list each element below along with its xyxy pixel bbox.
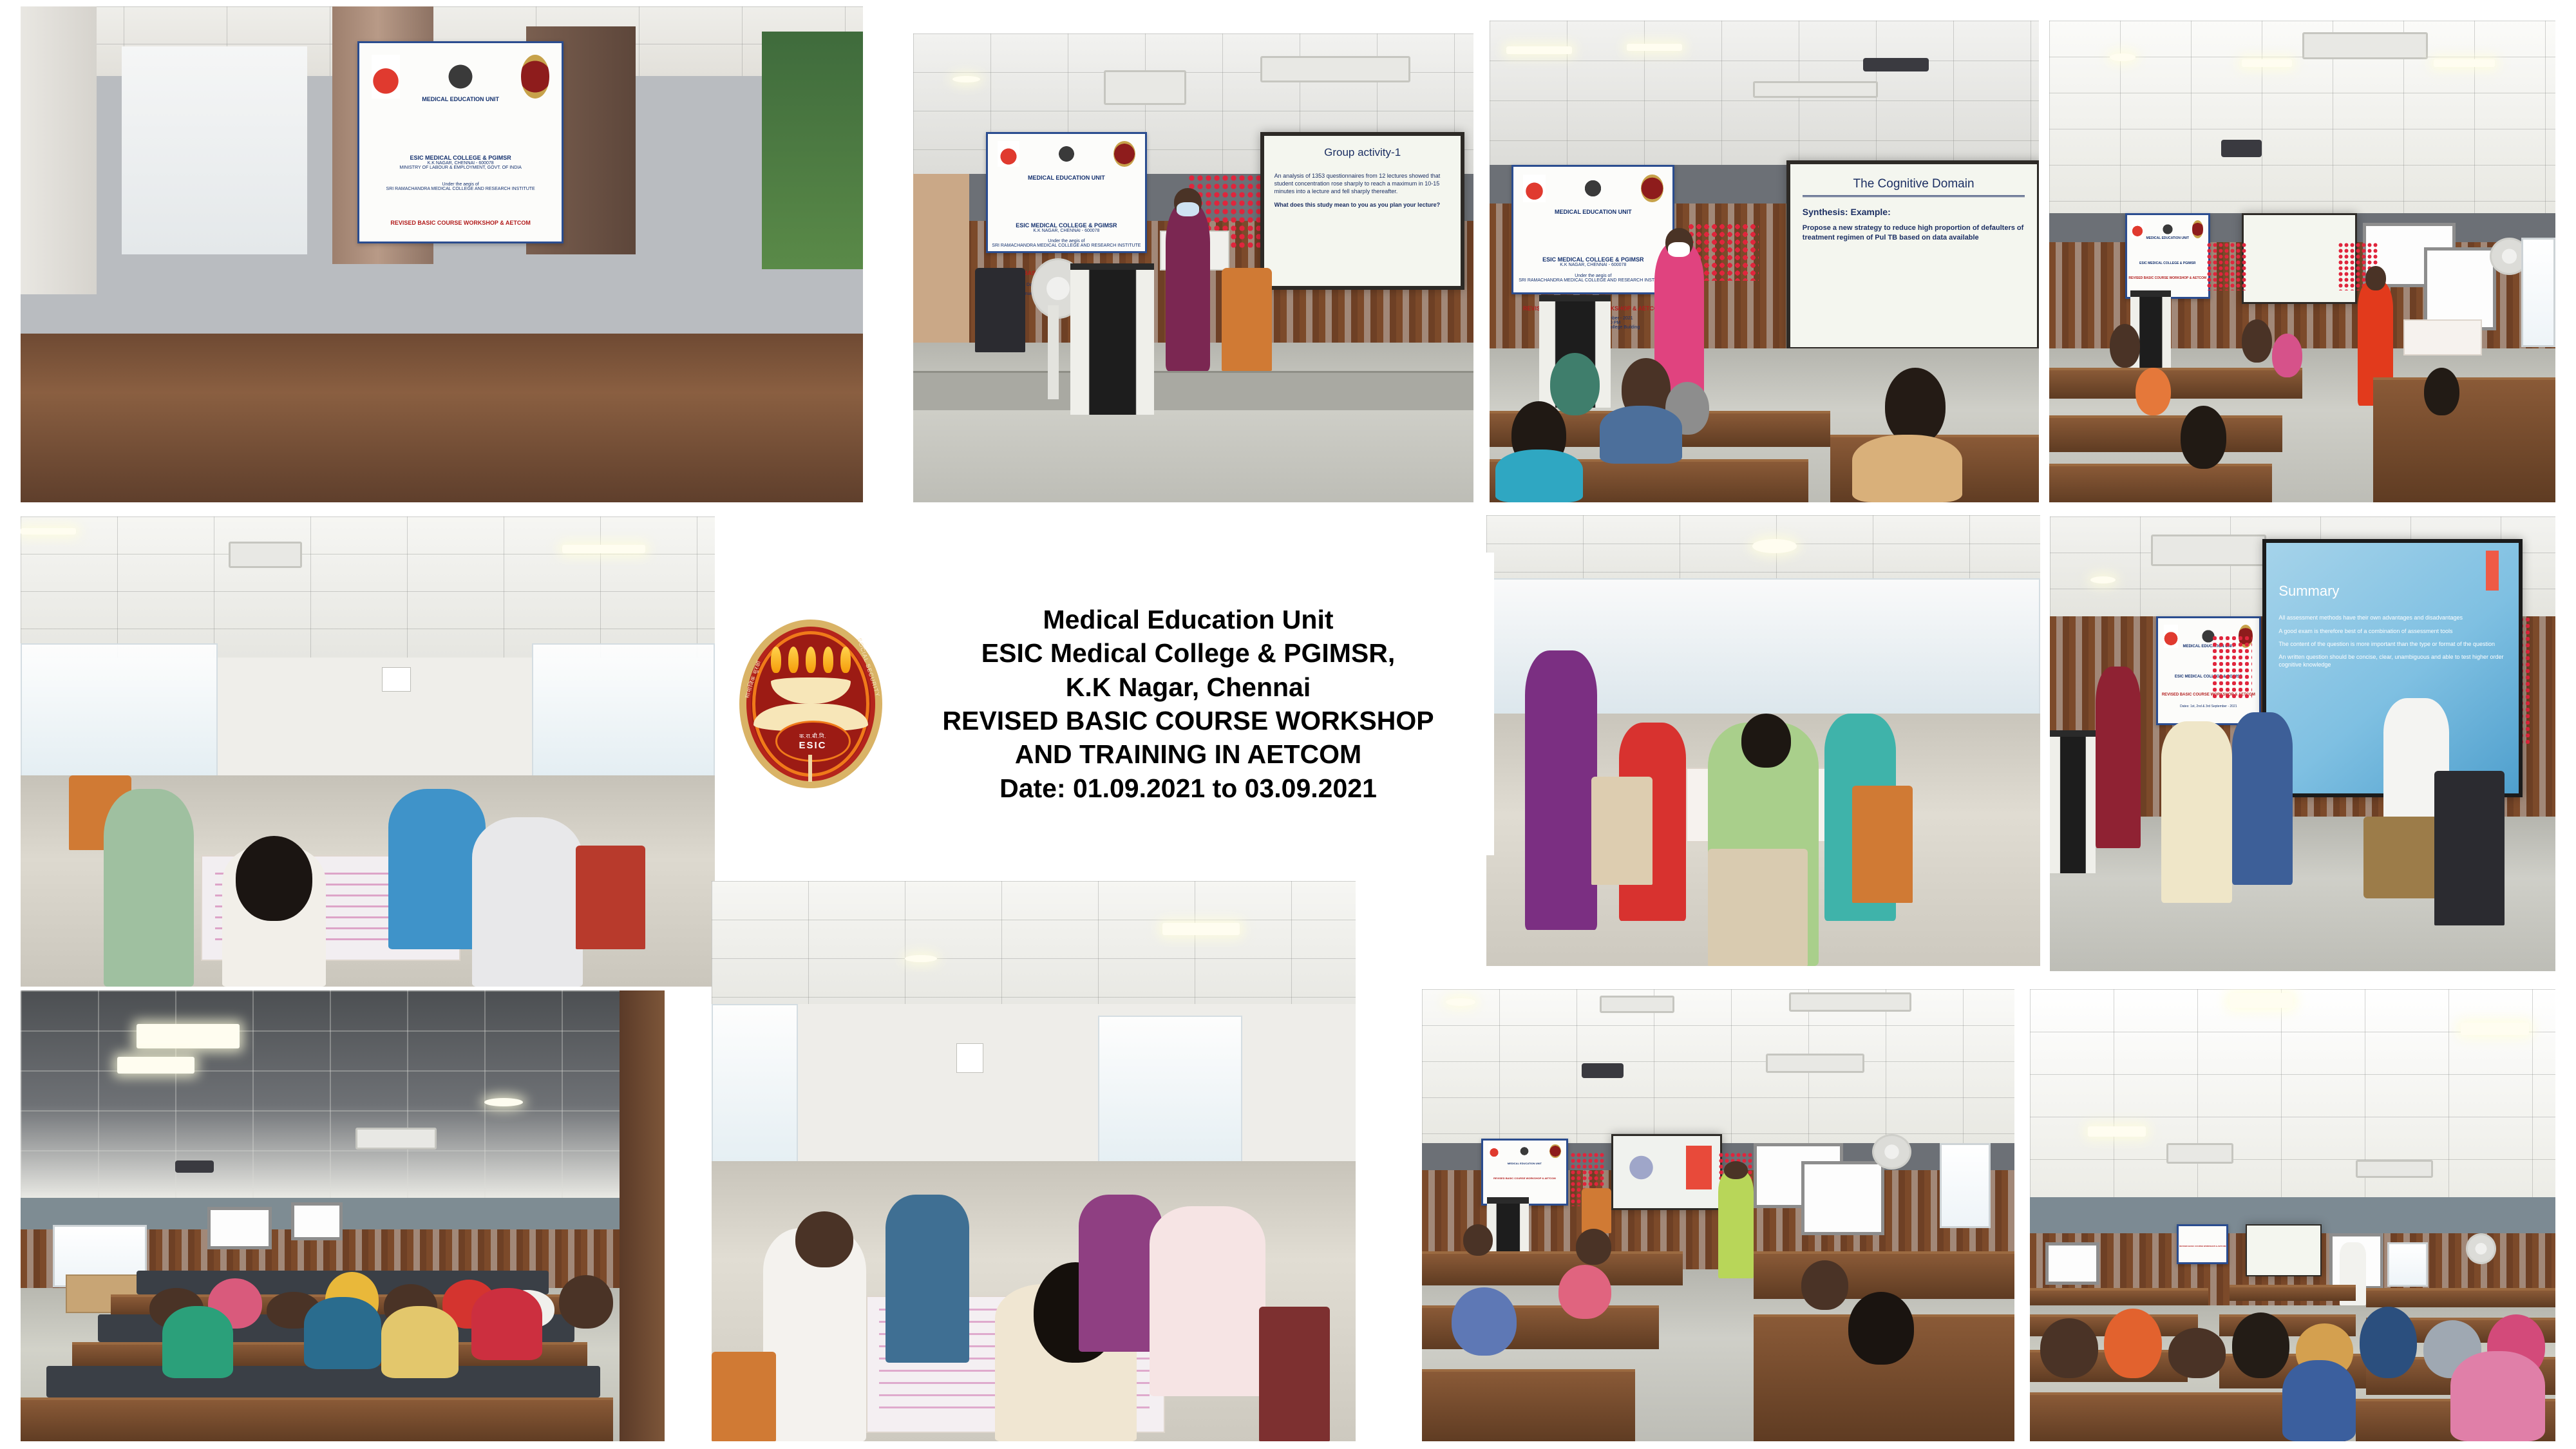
banner-partner: SRI RAMACHANDRA MEDICAL COLLEGE AND RESE… [988,243,1145,248]
projector-screen [1611,1134,1722,1210]
mciindia-logo-icon [2164,625,2178,648]
slide-bullet-3: The content of the question is more impo… [2278,640,2506,648]
ceiling-light-1 [1506,46,1572,53]
panelist-seated-1 [2161,721,2232,903]
ceiling-light [2090,576,2116,583]
desk-row-1 [2049,368,2302,399]
ceiling-light-1 [2110,53,2135,61]
mciindia-logo-icon [998,141,1019,167]
desk-row-right [2373,377,2555,502]
slide-subtitle: Synthesis: Example: [1803,206,2025,218]
ceiling-light-2 [2461,1023,2529,1035]
seated-participant-scrubs [388,789,486,949]
participant-front-1 [162,1306,233,1378]
photo-classroom-rear-view-session: REVISED BASIC COURSE WORKSHOP & AETCOM [2030,989,2555,1441]
slide-text [2249,225,2349,230]
slide-bullet: Propose a new strategy to reduce high pr… [1803,223,2025,243]
ceiling-projector [1863,58,1929,71]
ceiling [712,881,1356,1004]
ceiling-light-3 [2434,59,2494,67]
event-banner: MEDICAL EDUCATION UNIT ESIC MEDICAL COLL… [2125,213,2210,299]
caption-line-3: K.K Nagar, Chennai [1066,670,1311,704]
ac-vent-icon [1104,70,1186,105]
caption-line-4: REVISED BASIC COURSE WORKSHOP [942,704,1434,737]
ceiling-light-1 [137,1024,240,1049]
banner-org-line2: ESIC MEDICAL COLLEGE & PGIMSR [1513,256,1672,263]
audience-head-1 [1550,353,1600,415]
stage-edge [913,371,1473,410]
banner-aegis: Under the aegis of [988,239,1145,243]
esic-abbr-badge: क.रा.बी.नि. ESIC [775,721,851,762]
face-mask-icon [1668,242,1690,256]
plastic-chair-stage [1582,1188,1611,1233]
participant-head-4 [2136,368,2171,416]
national-emblem-icon [2162,220,2173,238]
national-emblem-icon [446,55,475,99]
partner-seal-icon [1641,175,1663,202]
photo-auditorium-participants-seated [21,990,665,1441]
partner-seal-icon [1549,1144,1561,1159]
caption-line-6: Date: 01.09.2021 to 03.09.2021 [999,772,1377,805]
projection-screen-2 [291,1202,343,1240]
facilitator-head [1724,1161,1748,1179]
plastic-chair-left [1591,777,1653,885]
banner-aegis: Under the aegis of [1513,274,1672,278]
panelist-seated-2 [2232,712,2293,885]
ceiling [2049,21,2555,213]
partner-seal-icon [2192,220,2204,238]
participant-front-3 [381,1306,459,1378]
whiteboard-flip [2424,247,2496,331]
ac-vent-icon-2 [1789,992,1911,1012]
plastic-chair-right [1259,1307,1330,1441]
ac-vent-icon-1 [1600,996,1674,1013]
photo-speaker-at-podium-group-activity-slide: MEDICAL EDUCATION UNIT ESIC MEDICAL COLL… [913,33,1473,502]
ceiling-projector [1582,1063,1623,1079]
event-banner: MEDICAL EDUCATION UNIT REVISED BASIC COU… [1481,1139,1568,1206]
slide-bullet-4: An written question should be concise, c… [2278,653,2506,668]
seated-participant-left [104,789,194,987]
facilitator [1718,1170,1754,1278]
participant-head-6 [2424,368,2459,416]
participant-front-2 [304,1297,381,1369]
side-wall [620,990,665,1441]
window [1940,1143,1991,1228]
seated-participant-left-head [795,1211,853,1267]
desk-row-3 [2049,464,2272,502]
oil-lamp-icon [771,647,851,704]
projector-screen: The Cognitive Domain Synthesis: Example:… [1786,160,2039,351]
audience-body-2 [1600,406,1682,464]
plastic-chair-center [1708,849,1808,966]
ceiling [1422,989,2014,1143]
slide-accent [1686,1146,1712,1189]
desk-row-2 [2049,415,2282,451]
esic-logo-icon: क.रा.बी.नि. ESIC सामाजिक सुरक्षा SOCIAL … [739,620,882,788]
banner-org-line1: MEDICAL EDUCATION UNIT [1513,209,1672,215]
banner-title: REVISED BASIC COURSE WORKSHOP & AETCOM [1483,1177,1566,1180]
standing-facilitator [2096,667,2141,848]
participant-head-3 [2272,334,2302,377]
participant-head-2 [2242,319,2272,363]
slide-body: An analysis of 1353 questionnaires from … [1274,172,1451,195]
participant-head-3 [1558,1265,1612,1319]
desk-row-1 [1422,1251,1683,1285]
plastic-chair [1222,268,1272,371]
collage-caption-card: क.रा.बी.नि. ESIC सामाजिक सुरक्षा SOCIAL … [721,553,1494,855]
lamp-flames-icon [771,647,851,673]
banner-org-line1: MEDICAL EDUCATION UNIT [1483,1162,1566,1165]
ceiling [21,990,665,1198]
wall-fan-icon [1872,1134,1911,1170]
esic-abbr: ESIC [799,740,826,751]
ac-vent-right-icon [1260,56,1410,82]
seated-participant-back-head [1741,714,1791,768]
ceiling-light-2 [1162,923,1240,935]
banner-org-line3: K.K NAGAR, CHENNAI - 600078 [1513,263,1672,267]
banner-org-line2: ESIC MEDICAL COLLEGE & PGIMSR [988,222,1145,229]
mciindia-logo-icon [1523,175,1546,202]
participant-head-5 [1801,1260,1849,1310]
photo-classroom-facilitator-standing: MEDICAL EDUCATION UNIT REVISED BASIC COU… [1422,989,2014,1441]
slide-title: Summary [2278,583,2506,603]
photo-collage: MEDICAL EDUCATION UNIT ESIC MEDICAL COLL… [0,0,2576,1449]
national-emblem-icon [1582,175,1604,202]
photo-summary-slide-panel-discussion: MEDICAL EDUCATION UNIT ESIC MEDICAL COLL… [2050,516,2555,971]
participant-front-right [2450,1351,2545,1441]
mciindia-logo-icon [372,55,400,99]
caption-line-2: ESIC Medical College & PGIMSR, [981,636,1395,670]
ac-vent-icon-3 [1766,1054,1864,1073]
ac-vent-icon-2 [2356,1160,2433,1179]
standing-observer-saree [1525,650,1597,930]
ac-vent-icon [229,542,302,568]
event-banner: MEDICAL EDUCATION UNIT ESIC MEDICAL COLL… [1511,165,1674,294]
banner-title: REVISED BASIC COURSE WORKSHOP & AETCOM [2127,276,2208,280]
national-emblem-icon [1519,1144,1530,1159]
office-chair [975,268,1025,352]
caption-text-block: Medical Education Unit ESIC Medical Coll… [882,603,1494,806]
fan-stand [1048,305,1059,399]
slide-title: Group activity-1 [1274,146,1451,163]
ceiling-light [1752,539,1797,553]
national-emblem-icon [1056,141,1077,167]
slide-bullet-1: All assessment methods have their own ad… [2278,614,2506,621]
ceiling-light-2 [562,545,645,553]
office-chair [2434,771,2505,925]
slide-bullet-2: A good exam is therefore best of a combi… [2278,627,2506,635]
participant-head-4 [1452,1287,1517,1355]
plastic-chair-right [1852,786,1913,903]
ceiling-light-2 [117,1057,194,1074]
desk-row-3 [1422,1369,1635,1441]
participant-head-5 [2181,406,2226,468]
event-banner: MEDICAL EDUCATION UNIT ESIC MEDICAL COLL… [986,132,1147,253]
window [2521,238,2555,348]
people-row-front-seated [29,304,855,493]
mciindia-logo-icon [1488,1144,1500,1159]
audience-body-3 [1852,435,1962,502]
ac-vent-icon [1753,81,1878,98]
photo-group-work-flipchart-large [712,881,1356,1441]
door [913,174,969,343]
ceiling [2030,989,2555,1197]
partner-seal-icon [1113,141,1135,167]
participant-front-center [2282,1360,2356,1441]
ceiling-light-1 [21,528,76,535]
audience-head-5 [1885,368,1946,445]
ac-vent-icon [2302,32,2428,59]
podium [2050,730,2096,873]
face-mask-icon [1177,202,1199,216]
photo-small-group-work-round-table [21,516,715,987]
ceiling [1486,515,2040,578]
participant-head-6 [1848,1292,1913,1364]
banner-org-line3: K.K NAGAR, CHENNAI - 600078 [988,229,1145,233]
seated-participant-right [1150,1206,1265,1397]
seated-participant-front-head [236,836,312,920]
ac-vent-icon [355,1128,437,1150]
side-table [2403,319,2482,355]
podium [1070,263,1155,415]
ceiling [1490,21,2039,165]
slide-graphic [1622,1146,1661,1189]
photo-group-photograph-participants: MEDICAL EDUCATION UNIT ESIC MEDICAL COLL… [21,6,863,502]
ceiling-light-1 [2230,993,2293,1008]
ceiling-light-2 [1627,44,1681,51]
slide-question: What does this study mean to you as you … [1274,201,1451,209]
wall-fan-icon [2466,1233,2496,1264]
banner-title: REVISED BASIC COURSE WORKSHOP & AETCOM [2179,1245,2226,1247]
plastic-chair-right [576,846,645,949]
caption-line-5: AND TRAINING IN AETCOM [1015,737,1361,771]
participant-head-1 [2110,324,2140,367]
photo-classroom-session-wide-view: MEDICAL EDUCATION UNIT ESIC MEDICAL COLL… [2049,21,2555,502]
flower-garland-left [2206,242,2247,290]
ac-vent-icon-1 [2166,1143,2233,1164]
event-banner: REVISED BASIC COURSE WORKSHOP & AETCOM [2177,1224,2228,1264]
facilitator-head [2365,266,2385,290]
ac-vent-icon [2151,535,2266,566]
photo-lecture-cognitive-domain-slide: MEDICAL EDUCATION UNIT ESIC MEDICAL COLL… [1490,21,2039,502]
flower-garland-left [2211,635,2252,699]
ceiling [21,516,715,658]
participant-head-1 [1463,1224,1493,1256]
participant-front-4 [471,1288,542,1360]
seated-participant-blue [885,1195,969,1363]
photo-small-group-discussion-observers [1486,515,2040,966]
slide-title: The Cognitive Domain [1803,177,2025,197]
lamp-stand [808,755,813,782]
caption-line-1: Medical Education Unit [1043,603,1333,636]
banner-dates: Dates: 1st, 2nd & 3rd September - 2021 [2158,705,2259,708]
projector-screen: Group activity-1 An analysis of 1353 que… [1260,132,1464,290]
plastic-chair-left [712,1352,776,1441]
mciindia-logo-icon [2132,220,2143,238]
participant-head-2 [1576,1229,1611,1265]
ceiling-light-2 [2242,59,2293,67]
seated-participant-right [472,817,583,987]
facilitator-legs [2363,817,2445,898]
audience-body-1 [1495,450,1583,502]
speaker [1166,202,1211,371]
esic-hindi-abbr: क.रा.बी.नि. [799,732,826,740]
ceiling-projector [175,1160,214,1173]
banner-partner: SRI RAMACHANDRA MEDICAL COLLEGE AND RESE… [1513,278,1672,283]
ceiling-light-3 [2088,1126,2146,1137]
projector-screen [2246,1224,2322,1276]
partner-seal-icon [521,55,549,99]
banner-org-line2: ESIC MEDICAL COLLEGE & PGIMSR [2127,261,2208,265]
banner-org-line1: MEDICAL EDUCATION UNIT [988,175,1145,181]
ceiling-projector [2221,140,2262,157]
whiteboard-2 [1801,1161,1885,1235]
